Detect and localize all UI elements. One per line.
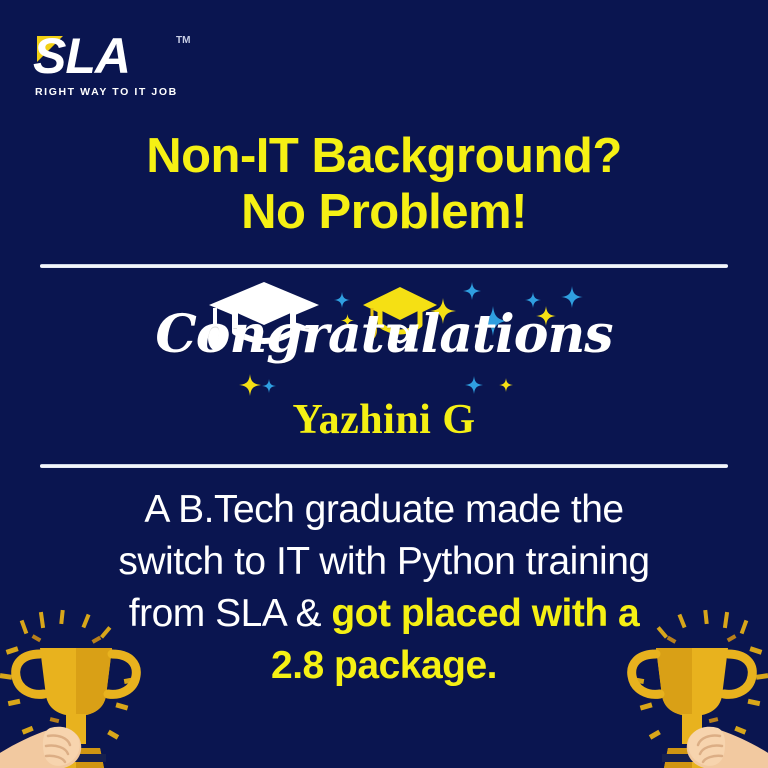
poster-canvas: SLA TM RIGHT WAY TO IT JOB Non-IT Backgr…	[0, 0, 768, 768]
congratulations-script-text: Congratulations	[0, 304, 768, 365]
divider-bottom	[40, 464, 728, 468]
brand-tagline: RIGHT WAY TO IT JOB	[35, 86, 178, 98]
trademark-symbol: TM	[176, 35, 190, 46]
sparkle-blue-icon	[465, 376, 483, 394]
body-line-4: 2.8 package.	[0, 640, 768, 692]
body-line-3: from SLA & got placed with a	[0, 588, 768, 640]
headline-line-2: No Problem!	[0, 184, 768, 240]
body-line-3-plain: from SLA &	[129, 592, 332, 635]
headline: Non-IT Background? No Problem!	[0, 128, 768, 240]
divider-top	[40, 264, 728, 268]
logo-mark: SLA TM	[33, 30, 183, 82]
sparkle-yellow-icon	[239, 374, 261, 396]
body-copy: A B.Tech graduate made the switch to IT …	[0, 484, 768, 692]
body-line-1: A B.Tech graduate made the	[0, 484, 768, 536]
brand-logo: SLA TM RIGHT WAY TO IT JOB	[33, 30, 203, 108]
sparkle-blue-icon	[463, 282, 481, 300]
sparkle-yellow-icon	[499, 378, 513, 392]
headline-line-1: Non-IT Background?	[0, 128, 768, 184]
recipient-name: Yazhini G	[0, 396, 768, 444]
sparkle-blue-icon	[262, 379, 276, 393]
body-line-3-highlight: got placed with a	[331, 592, 639, 635]
body-line-2: switch to IT with Python training	[0, 536, 768, 588]
logo-wordmark: SLA	[33, 30, 130, 82]
congratulations-graphic: Congratulations	[0, 278, 768, 398]
body-line-4-highlight: 2.8 package.	[271, 644, 497, 687]
